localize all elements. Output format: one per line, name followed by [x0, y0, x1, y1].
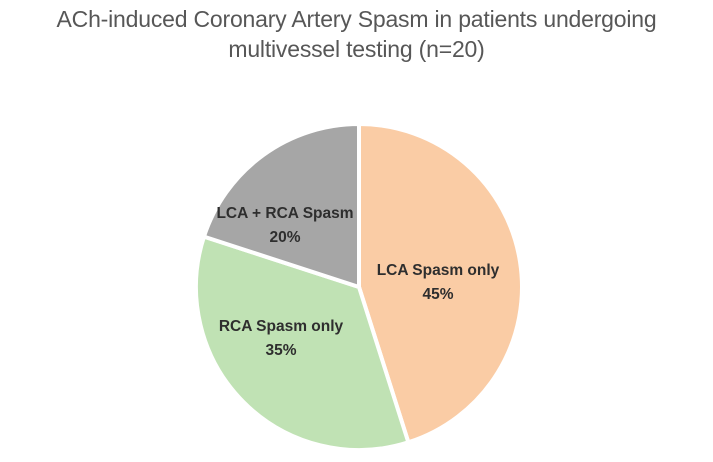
pie-chart: LCA Spasm only 45% RCA Spasm only 35% LC… [0, 0, 713, 462]
pie-chart-svg [0, 0, 713, 462]
chart-page: ACh-induced Coronary Artery Spasm in pat… [0, 0, 713, 462]
